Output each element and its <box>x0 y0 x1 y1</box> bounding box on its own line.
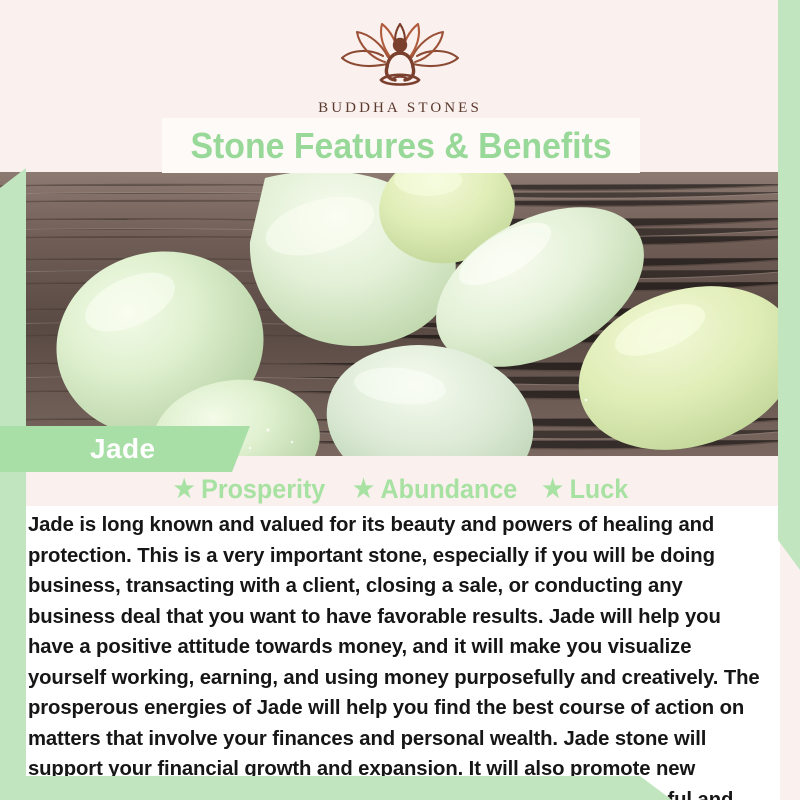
frame-left-green-strip <box>0 168 26 800</box>
page-title: Stone Features & Benefits <box>190 125 611 167</box>
section-title-banner: Stone Features & Benefits <box>162 118 640 173</box>
benefit-label: Abundance <box>381 474 518 505</box>
star-icon: ★ <box>353 477 374 502</box>
star-icon: ★ <box>543 477 564 502</box>
benefit-abundance: ★ Abundance <box>353 474 517 505</box>
description-text: Jade is long known and valued for its be… <box>24 510 769 800</box>
card-content: ★ Prosperity ★ Abundance ★ Luck Jade is … <box>0 456 800 800</box>
description-box: Jade is long known and valued for its be… <box>24 506 780 800</box>
stone-photo <box>0 172 800 456</box>
benefit-prosperity: ★ Prosperity <box>174 474 326 505</box>
benefit-label: Luck <box>570 474 629 505</box>
benefits-row: ★ Prosperity ★ Abundance ★ Luck <box>0 474 800 505</box>
lotus-meditation-icon <box>325 18 475 96</box>
brand-logo: BUDDHA STONES <box>0 18 800 117</box>
jade-stones-image <box>0 172 800 456</box>
frame-right-green-strip <box>778 0 800 570</box>
benefit-label: Prosperity <box>201 474 325 505</box>
brand-name: BUDDHA STONES <box>318 100 482 117</box>
stone-name-label: Jade <box>90 433 155 465</box>
stone-name-band: Jade <box>0 426 250 472</box>
star-icon: ★ <box>174 477 195 502</box>
benefit-luck: ★ Luck <box>543 474 629 505</box>
product-info-card: BUDDHA STONES <box>0 0 800 800</box>
